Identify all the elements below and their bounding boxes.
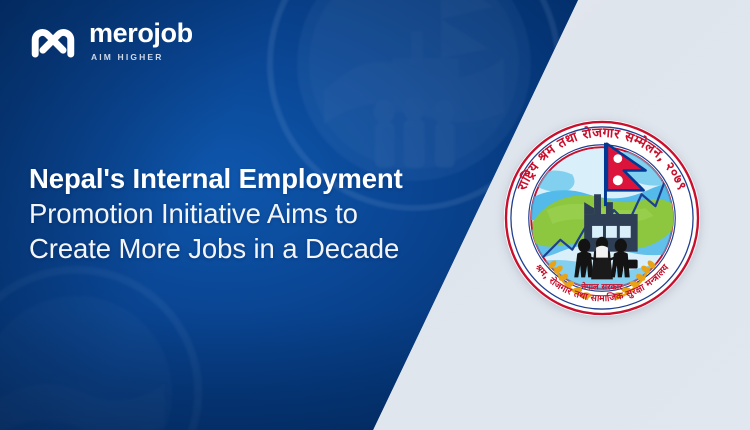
news-banner-image: merojob AIM HIGHER Nepal's Internal Empl… xyxy=(0,0,750,430)
brand-name: merojob xyxy=(89,20,193,47)
headline-text: Nepal's Internal Employment Promotion In… xyxy=(29,161,433,266)
brand-tagline: AIM HIGHER xyxy=(91,52,164,62)
emblem-center-text: नेपाल सरकार xyxy=(581,281,624,291)
merojob-logo[interactable]: merojob AIM HIGHER xyxy=(28,19,193,63)
merojob-m-mark-icon xyxy=(28,19,78,63)
merojob-wordmark: merojob AIM HIGHER xyxy=(89,20,193,62)
headline-rest: Promotion Initiative Aims to Create More… xyxy=(29,198,399,264)
ministry-emblem: राष्ट्रिय श्रम तथा रोजगार सम्मेलन, २०७९ … xyxy=(503,119,701,317)
headline-emphasis: Nepal's Internal Employment xyxy=(29,163,403,194)
